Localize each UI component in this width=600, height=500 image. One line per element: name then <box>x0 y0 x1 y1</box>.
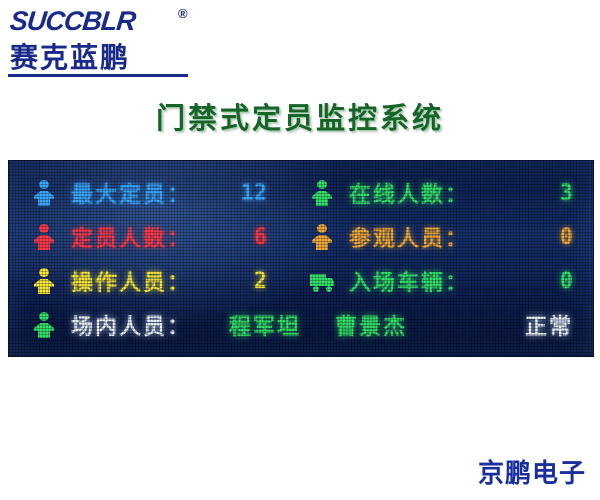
brand-logo-english: SUCCBLR <box>8 6 136 37</box>
brand-logo-chinese: 赛克蓝鹏 <box>10 36 130 76</box>
status-badge: 正常 <box>525 309 593 341</box>
field-label: 定员人数： <box>71 221 191 253</box>
registered-trademark-icon: ® <box>178 6 188 21</box>
led-row: 最大定员： 12 在线人数： 3 <box>9 173 593 213</box>
field-visitor-count: 参观人员： 0 <box>301 221 593 253</box>
occupant-name: 程军坦 <box>229 309 301 341</box>
person-icon <box>309 223 335 251</box>
led-row-occupants: 场内人员： 程军坦 曹景杰 正常 <box>9 305 593 345</box>
field-value: 12 <box>241 181 302 206</box>
field-quota-count: 定员人数： 6 <box>9 221 301 253</box>
brand-logo: SUCCBLR ® 赛克蓝鹏 <box>8 4 238 74</box>
person-icon <box>31 223 57 251</box>
field-value: 3 <box>560 181 593 206</box>
person-icon <box>31 267 57 295</box>
footer-company-name: 京鹏电子 <box>478 453 586 490</box>
page-title: 门禁式定员监控系统 <box>0 95 600 137</box>
brand-logo-underline <box>8 74 188 77</box>
field-value: 0 <box>560 225 593 250</box>
led-row: 操作人员： 2 入场车辆： 0 <box>9 261 593 301</box>
field-online-count: 在线人数： 3 <box>301 177 593 209</box>
field-label-occupants: 场内人员： <box>71 309 191 341</box>
field-label: 参观人员： <box>349 221 469 253</box>
field-label: 入场车辆： <box>349 265 469 297</box>
truck-icon <box>309 267 335 295</box>
field-operator-count: 操作人员： 2 <box>9 265 301 297</box>
person-icon <box>309 179 335 207</box>
led-row: 定员人数： 6 参观人员： 0 <box>9 217 593 257</box>
led-display-panel: 最大定员： 12 在线人数： 3 定员人数： 6 参观人员： 0 操作人员： 2 <box>8 160 594 357</box>
occupant-name: 曹景杰 <box>335 309 407 341</box>
field-label: 在线人数： <box>349 177 469 209</box>
field-value: 0 <box>560 269 593 294</box>
occupant-name-list: 程军坦 曹景杰 <box>229 309 407 341</box>
person-icon <box>31 311 57 339</box>
field-value: 2 <box>254 269 301 294</box>
person-icon <box>31 179 57 207</box>
field-value: 6 <box>254 225 301 250</box>
field-label: 操作人员： <box>71 265 191 297</box>
field-max-capacity: 最大定员： 12 <box>9 177 301 209</box>
field-label: 最大定员： <box>71 177 191 209</box>
field-vehicle-count: 入场车辆： 0 <box>301 265 593 297</box>
